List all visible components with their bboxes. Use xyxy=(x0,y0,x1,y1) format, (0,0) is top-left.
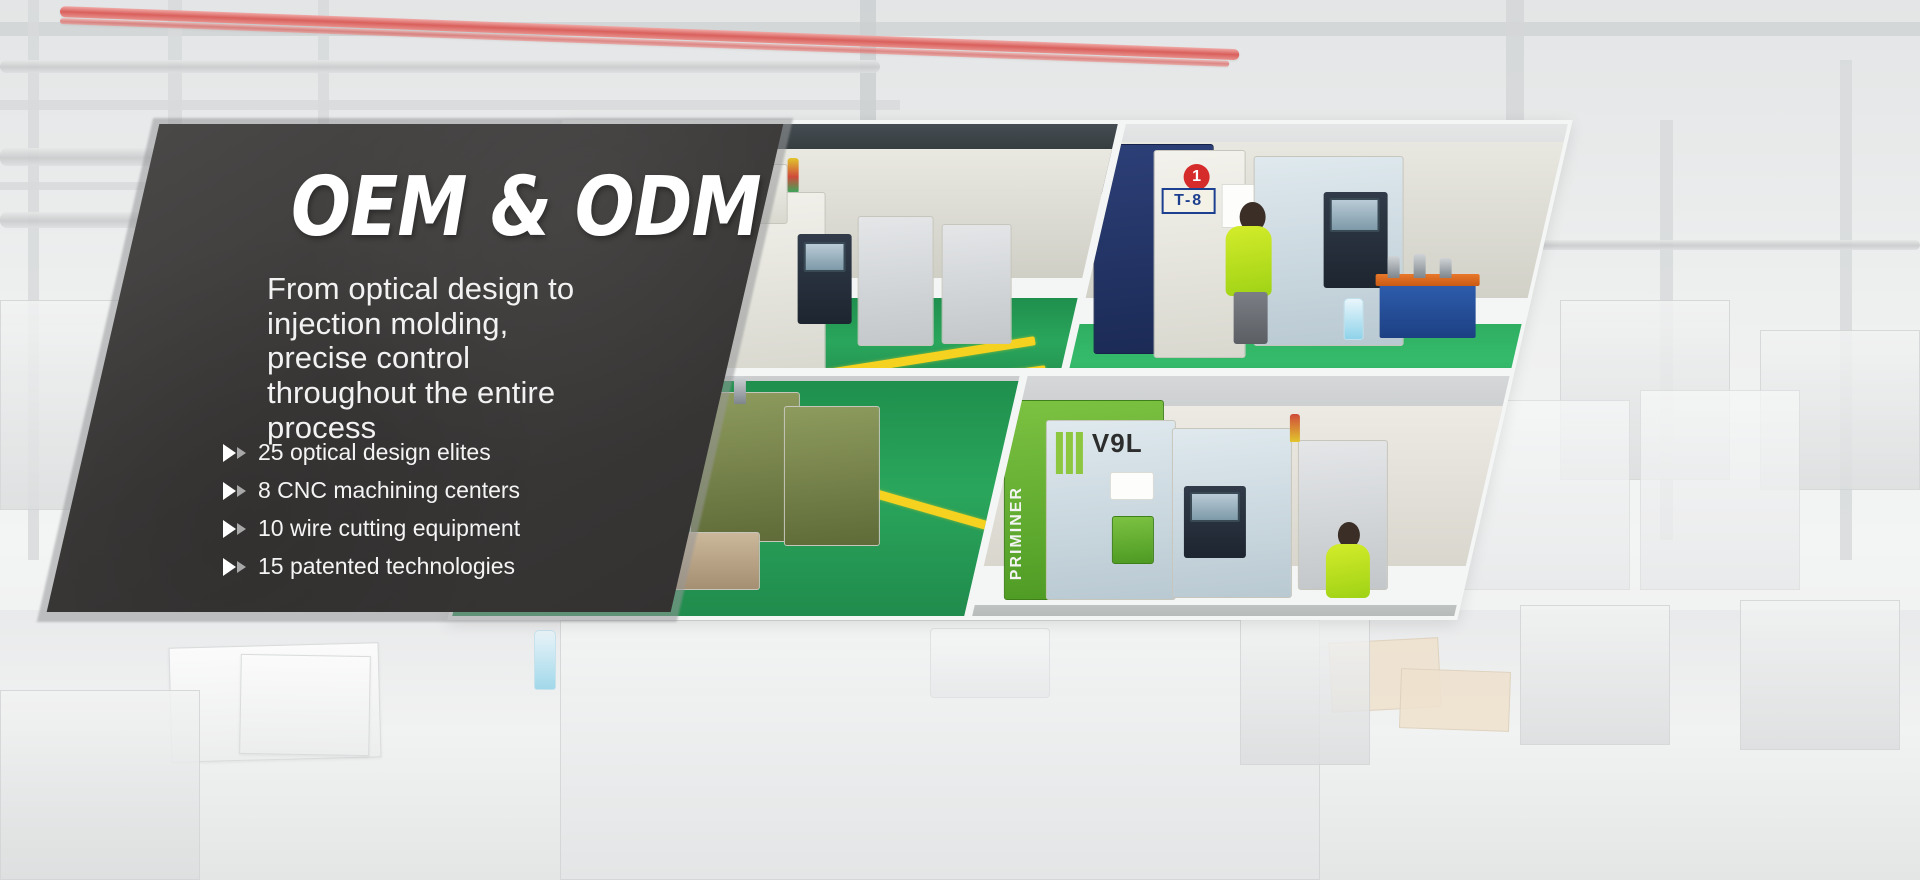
background-table xyxy=(1740,600,1900,750)
cnc-screen xyxy=(1330,198,1380,232)
panel-surface: OEM & ODM From optical design to injecti… xyxy=(47,124,784,612)
list-item: 10 wire cutting equipment xyxy=(223,515,663,542)
station-number-badge: 1 xyxy=(1184,164,1210,190)
hero-text-panel: OEM & ODM From optical design to injecti… xyxy=(95,118,735,622)
background-document-stand xyxy=(239,654,371,756)
feature-label: 15 patented technologies xyxy=(258,553,515,580)
background-workbench xyxy=(0,690,200,880)
tool-bench xyxy=(1380,280,1476,338)
photo-top-right: 1 T-8 xyxy=(1065,120,1573,372)
machine-stripe xyxy=(1066,432,1073,474)
machine-brand-label: PRIMINER xyxy=(1008,486,1026,580)
tooling-holder xyxy=(1388,256,1400,278)
signal-tower xyxy=(788,158,799,192)
list-item: 25 optical design elites xyxy=(223,439,663,466)
overhead-pipe xyxy=(1520,240,1920,250)
background-glass-wall xyxy=(1640,390,1800,590)
feature-list: 25 optical design elites 8 CNC machining… xyxy=(223,439,663,591)
feature-label: 10 wire cutting equipment xyxy=(258,515,520,542)
double-chevron-icon xyxy=(223,520,246,538)
tooling-holder xyxy=(1414,254,1426,278)
milling-machine xyxy=(784,406,880,546)
machine-spindle xyxy=(734,376,746,404)
double-chevron-icon xyxy=(223,558,246,576)
feature-label: 8 CNC machining centers xyxy=(258,477,520,504)
machine-door xyxy=(1112,516,1154,564)
background-bottle xyxy=(534,630,556,690)
background-table xyxy=(1520,605,1670,745)
cnc-screen xyxy=(804,242,846,272)
machine-secondary xyxy=(942,224,1012,344)
worker-pants xyxy=(1234,292,1268,344)
ceiling-beam xyxy=(0,100,900,110)
photo-bottom-right: V9L PRIMINER xyxy=(967,372,1514,620)
spray-bottle xyxy=(1344,298,1364,340)
background-table xyxy=(1240,615,1370,765)
background-tray xyxy=(930,628,1050,698)
tooling-holder xyxy=(1440,258,1452,278)
hero-subtitle: From optical design to injection molding… xyxy=(267,272,597,446)
machine-stripe xyxy=(1076,432,1083,474)
cnc-screen xyxy=(1190,492,1240,522)
feature-label: 25 optical design elites xyxy=(258,439,491,466)
page-title: OEM & ODM xyxy=(291,160,761,255)
machine-secondary xyxy=(858,216,934,346)
overhead-pipe xyxy=(0,60,880,73)
machine-tag-t8: T-8 xyxy=(1162,188,1216,214)
machine-window xyxy=(1110,472,1154,500)
machine-stripe xyxy=(1056,432,1063,474)
worker-shirt xyxy=(1326,544,1370,598)
list-item: 8 CNC machining centers xyxy=(223,477,663,504)
background-carton xyxy=(1399,668,1511,732)
worker-shirt xyxy=(1226,226,1272,296)
double-chevron-icon xyxy=(223,444,246,462)
ceiling-lamp xyxy=(1070,372,1092,373)
double-chevron-icon xyxy=(223,482,246,500)
signal-tower xyxy=(1290,414,1300,442)
machine-model-label: V9L xyxy=(1092,428,1143,459)
list-item: 15 patented technologies xyxy=(223,553,663,580)
